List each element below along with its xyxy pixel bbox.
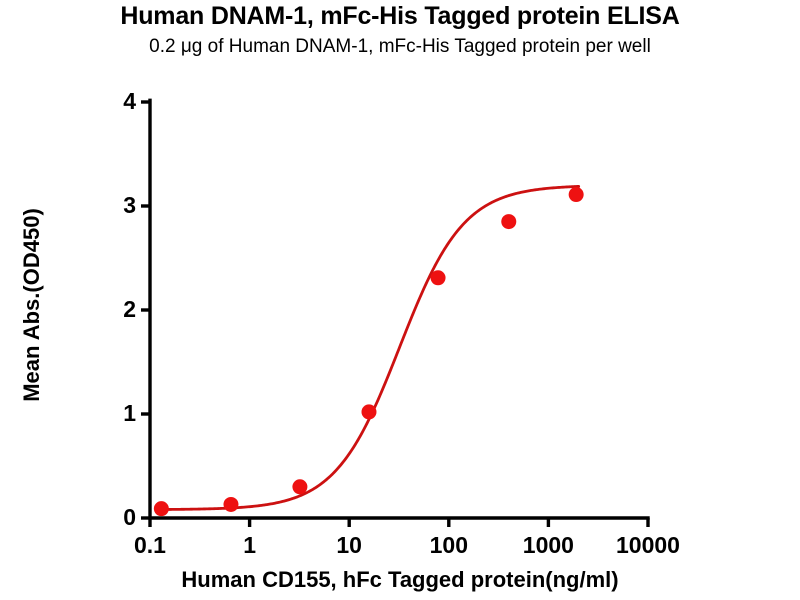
x-axis-label: Human CD155, hFc Tagged protein(ng/ml) — [0, 567, 800, 593]
data-point — [431, 270, 446, 285]
x-tick-label: 10000 — [588, 534, 708, 557]
y-axis-label: Mean Abs.(OD450) — [19, 155, 45, 455]
chart-title: Human DNAM-1, mFc-His Tagged protein ELI… — [0, 2, 800, 31]
data-point — [292, 479, 307, 494]
data-point — [154, 501, 169, 516]
y-tick-label: 0 — [102, 506, 136, 529]
data-point — [223, 497, 238, 512]
fit-curve — [158, 186, 579, 509]
y-tick-label: 1 — [102, 402, 136, 425]
plot-area — [150, 102, 648, 518]
plot-svg — [150, 102, 648, 518]
chart-figure: Human DNAM-1, mFc-His Tagged protein ELI… — [0, 0, 800, 600]
data-point — [361, 404, 376, 419]
axes-group — [141, 100, 648, 527]
chart-subtitle: 0.2 μg of Human DNAM-1, mFc-His Tagged p… — [0, 36, 800, 58]
y-tick-label: 4 — [102, 90, 136, 113]
data-points — [154, 187, 584, 516]
y-tick-label: 2 — [102, 298, 136, 321]
data-point — [501, 214, 516, 229]
data-point — [569, 187, 584, 202]
y-tick-label: 3 — [102, 194, 136, 217]
